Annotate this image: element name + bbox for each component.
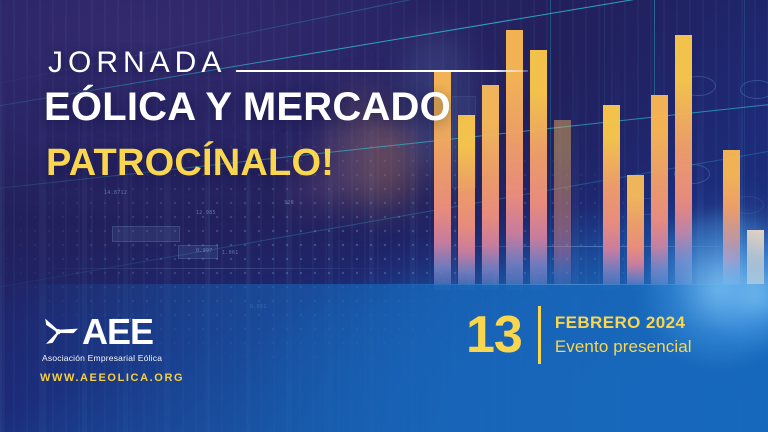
event-month-year: FEBRERO 2024 — [555, 312, 692, 334]
poster-content: JORNADA EÓLICA Y MERCADO PATROCÍNALO! — [0, 0, 768, 432]
wind-turbine-blade-icon — [40, 312, 80, 352]
logo-wordmark: AEE — [82, 314, 153, 350]
logo-row: AEE — [40, 312, 162, 352]
website-url[interactable]: WWW.AEEOLICA.ORG — [40, 372, 184, 384]
logo-tagline: Asociación Empresarial Eólica — [42, 353, 162, 363]
kicker-jornada: JORNADA — [48, 46, 226, 80]
event-day: 13 — [466, 309, 522, 361]
event-date-block: 13 FEBRERO 2024 Evento presencial — [466, 306, 692, 364]
date-text-lines: FEBRERO 2024 Evento presencial — [555, 312, 692, 358]
kicker-rule — [236, 70, 528, 72]
aee-logo[interactable]: AEE Asociación Empresarial Eólica — [40, 312, 162, 363]
event-poster: 14.8712 12.985 0.997 1.061 15.9906 328 0… — [0, 0, 768, 432]
poster-subtitle: PATROCÍNALO! — [46, 142, 334, 185]
page-title: EÓLICA Y MERCADO — [44, 85, 451, 130]
event-mode: Evento presencial — [555, 336, 692, 358]
date-divider — [538, 306, 541, 364]
